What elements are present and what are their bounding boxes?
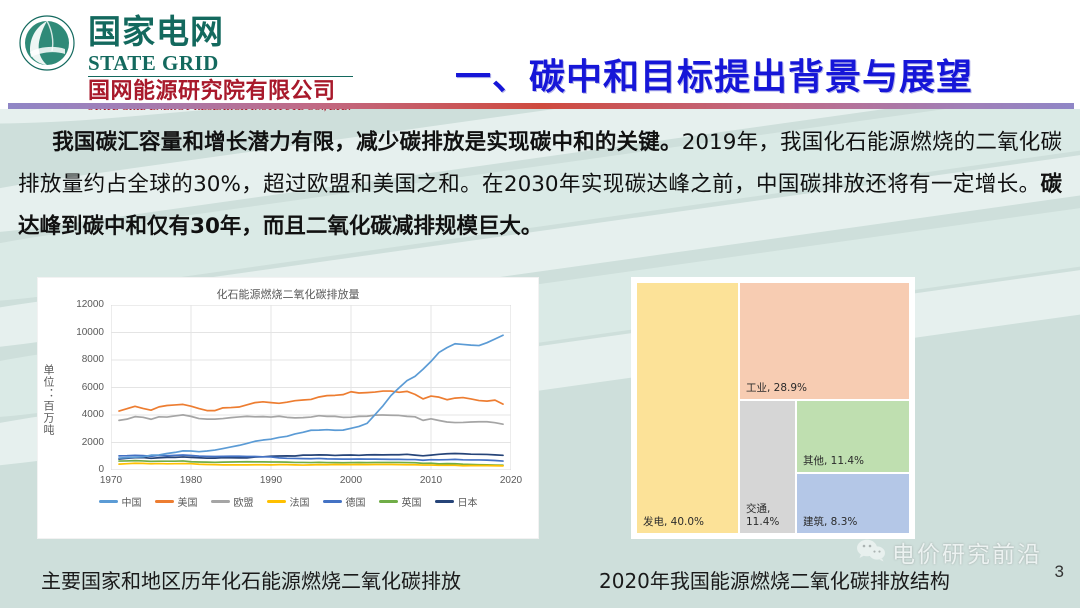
presentation-slide: 国家电网 STATE GRID 国网能源研究院有限公司 STATE GRID E…: [0, 0, 1080, 608]
slide-header: 国家电网 STATE GRID 国网能源研究院有限公司 STATE GRID E…: [0, 0, 1080, 103]
treemap-cell-label: 其他, 11.4%: [803, 455, 864, 468]
treemap-chart-emission-structure: 发电, 40.0%工业, 28.9%交通,11.4%其他, 11.4%建筑, 8…: [631, 277, 915, 539]
organization-logo-block: 国家电网 STATE GRID 国网能源研究院有限公司 STATE GRID E…: [18, 8, 438, 100]
legend-label: 美国: [178, 494, 198, 509]
brand-name-en: STATE GRID: [88, 52, 219, 74]
paragraph-segment-bold-lead: 我国碳汇容量和增长潜力有限，减少碳排放是实现碳中和的关键。: [52, 130, 682, 155]
legend-label: 欧盟: [234, 494, 254, 509]
chart-title: 化石能源燃烧二氧化碳排放量: [38, 286, 538, 302]
watermark-text: 电价研究前沿: [892, 535, 1042, 569]
legend-swatch-icon: [99, 500, 118, 503]
y-tick-2000: 2000: [56, 437, 104, 448]
x-tick-1990: 1990: [249, 475, 293, 486]
y-tick-10000: 10000: [56, 327, 104, 338]
legend-swatch-icon: [435, 500, 454, 503]
legend-item-德国[interactable]: 德国: [323, 494, 366, 509]
legend-swatch-icon: [211, 500, 230, 503]
x-tick-2020: 2020: [489, 475, 533, 486]
legend-label: 德国: [346, 494, 366, 509]
treemap-cell-label: 发电, 40.0%: [643, 516, 704, 529]
treemap-cell-工业[interactable]: 工业, 28.9%: [739, 282, 910, 400]
x-tick-1970: 1970: [89, 475, 133, 486]
chart-y-axis-label: 单位：百万吨: [40, 364, 56, 436]
legend-item-美国[interactable]: 美国: [155, 494, 198, 509]
caption-right-chart: 2020年我国能源燃烧二氧化碳排放结构: [599, 565, 950, 594]
header-gradient-divider: [8, 103, 1074, 109]
treemap-cell-label: 交通,11.4%: [746, 503, 800, 529]
legend-swatch-icon: [155, 500, 174, 503]
y-tick-8000: 8000: [56, 354, 104, 365]
y-tick-4000: 4000: [56, 409, 104, 420]
y-tick-0: 0: [56, 464, 104, 475]
chart-plot-area: [111, 305, 511, 470]
treemap-cell-发电[interactable]: 发电, 40.0%: [636, 282, 739, 534]
treemap-cell-label: 建筑, 8.3%: [803, 516, 857, 529]
treemap-cell-建筑[interactable]: 建筑, 8.3%: [796, 473, 910, 534]
brand-name-cn: 国家电网: [88, 14, 224, 50]
brand-divider-rule: [88, 76, 353, 77]
legend-item-中国[interactable]: 中国: [99, 494, 142, 509]
caption-left-chart: 主要国家和地区历年化石能源燃烧二氧化碳排放: [41, 565, 461, 594]
state-grid-globe-logo-icon: [18, 14, 76, 72]
y-tick-12000: 12000: [56, 299, 104, 310]
legend-swatch-icon: [379, 500, 398, 503]
legend-swatch-icon: [267, 500, 286, 503]
line-chart-svg: [111, 305, 511, 470]
legend-item-法国[interactable]: 法国: [267, 494, 310, 509]
legend-label: 日本: [458, 494, 478, 509]
line-chart-fossil-co2-emissions: 化石能源燃烧二氧化碳排放量 单位：百万吨 12000 10000 8000 60…: [37, 277, 539, 539]
legend-label: 法国: [290, 494, 310, 509]
watermark: 电价研究前沿: [856, 535, 1042, 569]
legend-label: 英国: [402, 494, 422, 509]
page-number: 3: [1055, 562, 1064, 582]
treemap-cell-label: 工业, 28.9%: [746, 382, 807, 395]
x-tick-1980: 1980: [169, 475, 213, 486]
treemap-cell-交通[interactable]: 交通,11.4%: [739, 400, 796, 534]
legend-item-英国[interactable]: 英国: [379, 494, 422, 509]
treemap-cell-其他[interactable]: 其他, 11.4%: [796, 400, 910, 473]
legend-swatch-icon: [323, 500, 342, 503]
body-paragraph: 我国碳汇容量和增长潜力有限，减少碳排放是实现碳中和的关键。2019年，我国化石能…: [18, 122, 1062, 248]
wechat-icon: [856, 538, 886, 567]
chart-legend: 中国美国欧盟法国德国英国日本: [38, 494, 538, 509]
institute-name-cn: 国网能源研究院有限公司: [88, 80, 336, 104]
x-tick-2000: 2000: [329, 475, 373, 486]
treemap-plot-area: 发电, 40.0%工业, 28.9%交通,11.4%其他, 11.4%建筑, 8…: [636, 282, 910, 534]
y-tick-6000: 6000: [56, 382, 104, 393]
x-tick-2010: 2010: [409, 475, 453, 486]
legend-item-日本[interactable]: 日本: [435, 494, 478, 509]
legend-label: 中国: [122, 494, 142, 509]
page-title: 一、碳中和目标提出背景与展望: [455, 48, 1065, 100]
legend-item-欧盟[interactable]: 欧盟: [211, 494, 254, 509]
